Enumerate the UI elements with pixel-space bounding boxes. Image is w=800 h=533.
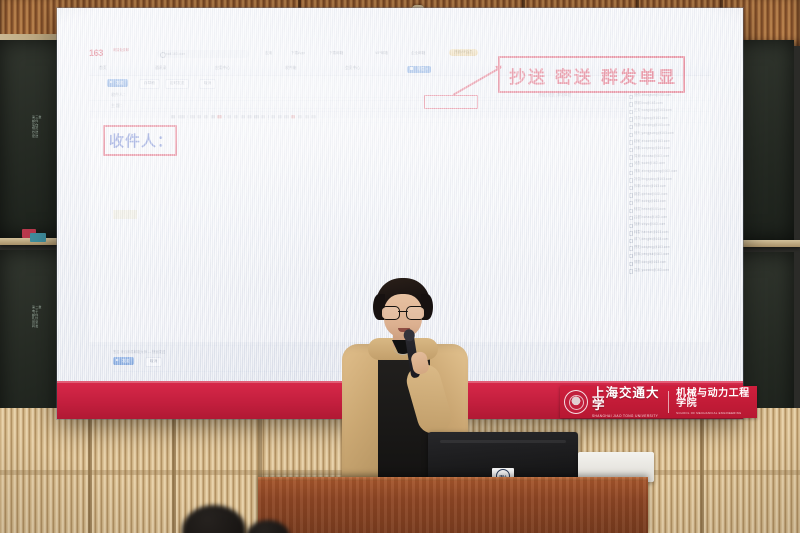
cancel-button-bottom[interactable]: 取消: [145, 357, 162, 367]
checkbox-icon[interactable]: [629, 148, 633, 152]
cancel-button[interactable]: 取消: [199, 79, 216, 89]
contact-label: 彭辉 penghui@163.com: [634, 252, 669, 256]
checkbox-icon[interactable]: [629, 155, 633, 159]
top-link-2[interactable]: 下载邮箱: [329, 51, 343, 56]
contact-row[interactable]: 朱琳 zhulin@163.com: [627, 183, 711, 191]
checkbox-icon[interactable]: [629, 186, 633, 190]
contact-label: 曹阳 caoyang@163.com: [634, 245, 670, 249]
contact-label: 王芳 wangfang@163.com: [634, 108, 672, 112]
top-link-3[interactable]: VIP邮箱: [375, 51, 388, 56]
contact-label: 施雨 shiyu@163.com: [634, 222, 665, 226]
contact-label: 赵敏 zhaomin@163.com: [634, 139, 670, 143]
university-name-en: SHANGHAI JIAO TONG UNIVERSITY: [592, 414, 661, 418]
checkbox-icon[interactable]: [629, 224, 633, 228]
contact-row[interactable]: 陈静 chenjing@163.com: [627, 122, 711, 130]
contact-row[interactable]: 袁鑫 yuanxin@163.com: [627, 267, 711, 275]
compose-icon: [410, 67, 413, 70]
send-button-bottom[interactable]: 发送: [113, 357, 134, 365]
tab-member-center[interactable]: 会员中心: [345, 66, 360, 71]
contact-label: 韩雪 hanxue@163.com: [634, 230, 668, 234]
checkbox-icon[interactable]: [629, 171, 633, 175]
annotation-label-recipient: 收件人：: [109, 130, 173, 151]
close-icon[interactable]: ×: [426, 67, 428, 71]
contact-row[interactable]: 刘洋 liuyang@163.com: [627, 115, 711, 123]
contact-row[interactable]: 周涛 zhoutao@163.com: [627, 153, 711, 161]
contact-label: 袁鑫 yuanxin@163.com: [634, 268, 669, 272]
glasses-icon: [381, 306, 425, 318]
save-draft-button[interactable]: 存草稿: [139, 79, 160, 89]
contact-label: 邓飞 dengfei@163.com: [634, 237, 668, 241]
contact-label: 秦浩 qinhao@163.com: [634, 192, 667, 196]
contact-label: 郑爽 zhengshuang@163.com: [634, 169, 677, 173]
checkbox-icon[interactable]: [629, 231, 633, 235]
contact-row[interactable]: 吴磊 wulei@163.com: [627, 160, 711, 168]
checkbox-icon[interactable]: [629, 216, 633, 220]
checkbox-icon[interactable]: [629, 140, 633, 144]
checkbox-icon[interactable]: [629, 254, 633, 258]
contact-label: 许婷 xuting@163.com: [634, 199, 666, 203]
contact-label: 张伟 zhangwei@163.com: [634, 93, 671, 97]
contact-label: 吴磊 wulei@163.com: [634, 161, 665, 165]
school-name-en: SCHOOL OF MECHANICAL ENGINEERING: [676, 411, 757, 415]
contact-row[interactable]: 施雨 shiyu@163.com: [627, 221, 711, 229]
address-bar-value: mail.163.com: [165, 52, 185, 56]
browser-address-bar[interactable]: mail.163.com: [157, 50, 249, 58]
contact-row[interactable]: 冯强 fengqiang@163.com: [627, 176, 711, 184]
contact-label: 周涛 zhoutao@163.com: [634, 154, 669, 158]
send-button-bottom-label: 发送: [122, 359, 129, 363]
send-plane-icon: [110, 81, 113, 83]
schedule-send-button[interactable]: 定时发送: [165, 79, 189, 89]
contact-row[interactable]: 李娜 lina@163.com: [627, 100, 711, 108]
contact-row[interactable]: 郑爽 zhengshuang@163.com: [627, 168, 711, 176]
tab-inbox[interactable]: 收件箱: [285, 66, 296, 71]
contact-label: 刘洋 liuyang@163.com: [634, 116, 668, 120]
annotation-box-subject-target: [424, 95, 478, 109]
checkbox-icon[interactable]: [629, 201, 633, 205]
contact-row[interactable]: 张伟 zhangwei@163.com: [627, 92, 711, 100]
checkbox-icon[interactable]: [629, 95, 633, 99]
tab-compose-label: 写信: [417, 67, 425, 71]
tab-app-center[interactable]: 应用中心: [215, 66, 230, 71]
checkbox-icon[interactable]: [629, 209, 633, 213]
contact-row[interactable]: 邓飞 dengfei@163.com: [627, 236, 711, 244]
contact-row[interactable]: 彭辉 penghui@163.com: [627, 251, 711, 259]
globe-icon: [160, 52, 166, 58]
contact-row[interactable]: 韩雪 hanxue@163.com: [627, 229, 711, 237]
subject-label: 主 题：: [111, 103, 124, 109]
recipient-input[interactable]: [141, 97, 701, 98]
school-name-cn: 机械与动力工程学院: [676, 389, 757, 409]
contact-label: 何斌 hebin@163.com: [634, 207, 666, 211]
contact-row[interactable]: 杨光 yangguang@163.com: [627, 130, 711, 138]
signature-placeholder: [113, 210, 137, 219]
checkbox-icon[interactable]: [629, 269, 633, 273]
logo-163[interactable]: 163: [89, 48, 103, 58]
top-link-1[interactable]: 下载App: [291, 51, 305, 56]
contact-row[interactable]: 许婷 xuting@163.com: [627, 198, 711, 206]
wooden-podium: [258, 477, 648, 533]
logo-subtitle: 网易免费邮: [113, 48, 139, 52]
contact-row[interactable]: 孙鹏 sunpeng@163.com: [627, 145, 711, 153]
contact-label: 董丽 dongli@163.com: [634, 260, 666, 264]
top-link-4[interactable]: 企业邮箱: [411, 51, 425, 56]
contact-label: 朱琳 zhulin@163.com: [634, 184, 666, 188]
vip-upgrade-chip[interactable]: 开通VIP会员: [449, 49, 478, 56]
contact-row[interactable]: 何斌 hebin@163.com: [627, 206, 711, 214]
checkbox-icon[interactable]: [629, 163, 633, 167]
tab-home[interactable]: 首页: [99, 66, 107, 71]
checkbox-icon[interactable]: [629, 262, 633, 266]
contact-label: 杨光 yangguang@163.com: [634, 131, 674, 135]
checkbox-icon[interactable]: [629, 102, 633, 106]
checkbox-icon[interactable]: [629, 110, 633, 114]
checkbox-icon[interactable]: [629, 239, 633, 243]
contact-label: 吕超 lvchao@163.com: [634, 215, 667, 219]
checkbox-icon[interactable]: [629, 178, 633, 182]
send-button-label: 发送: [116, 81, 123, 85]
send-button[interactable]: 发送: [107, 79, 128, 87]
sjtu-seal-icon: [564, 390, 588, 414]
contact-row[interactable]: 吕超 lvchao@163.com: [627, 214, 711, 222]
checkbox-icon[interactable]: [629, 125, 633, 129]
banner-divider: [668, 391, 669, 413]
contact-row[interactable]: 董丽 dongli@163.com: [627, 259, 711, 267]
contacts-sidebar[interactable]: 张伟 zhangwei@163.com 李娜 lina@163.com 王芳 w…: [626, 90, 711, 342]
checkbox-icon[interactable]: [629, 246, 633, 250]
contact-row[interactable]: 秦浩 qinhao@163.com: [627, 191, 711, 199]
subject-input[interactable]: [141, 108, 701, 109]
contact-row[interactable]: 赵敏 zhaomin@163.com: [627, 138, 711, 146]
recipient-label: 收件人：: [111, 92, 127, 98]
subject-field-row[interactable]: 主 题：: [89, 101, 711, 112]
tab-compose[interactable]: 写信 ×: [407, 66, 431, 74]
tab-contacts[interactable]: 通讯录: [155, 66, 166, 71]
top-link-0[interactable]: 应用: [265, 51, 272, 56]
contact-row[interactable]: 曹阳 caoyang@163.com: [627, 244, 711, 252]
contact-label: 孙鹏 sunpeng@163.com: [634, 146, 670, 150]
lecture-hall-photo: 第三章邮件写作规范抄送密送 第二章电子邮件礼仪回复转发: [0, 0, 800, 533]
contact-row[interactable]: 王芳 wangfang@163.com: [627, 107, 711, 115]
signature-hint: 签名 来自网易邮箱大师 — 快速发送: [113, 349, 165, 354]
checkbox-icon[interactable]: [629, 133, 633, 137]
annotation-label-cc-bcc: 抄送 密送 群发单显: [509, 63, 677, 88]
contact-label: 冯强 fengqiang@163.com: [634, 177, 672, 181]
checkbox-icon[interactable]: [629, 193, 633, 197]
contact-label: 李娜 lina@163.com: [634, 101, 663, 105]
contact-label: 陈静 chenjing@163.com: [634, 123, 670, 127]
send-plane-icon: [116, 359, 119, 361]
checkbox-icon[interactable]: [629, 117, 633, 121]
university-name-cn: 上海交通大学: [592, 387, 661, 412]
sjtu-banner: 上海交通大学 SHANGHAI JIAO TONG UNIVERSITY 机械与…: [560, 386, 757, 418]
